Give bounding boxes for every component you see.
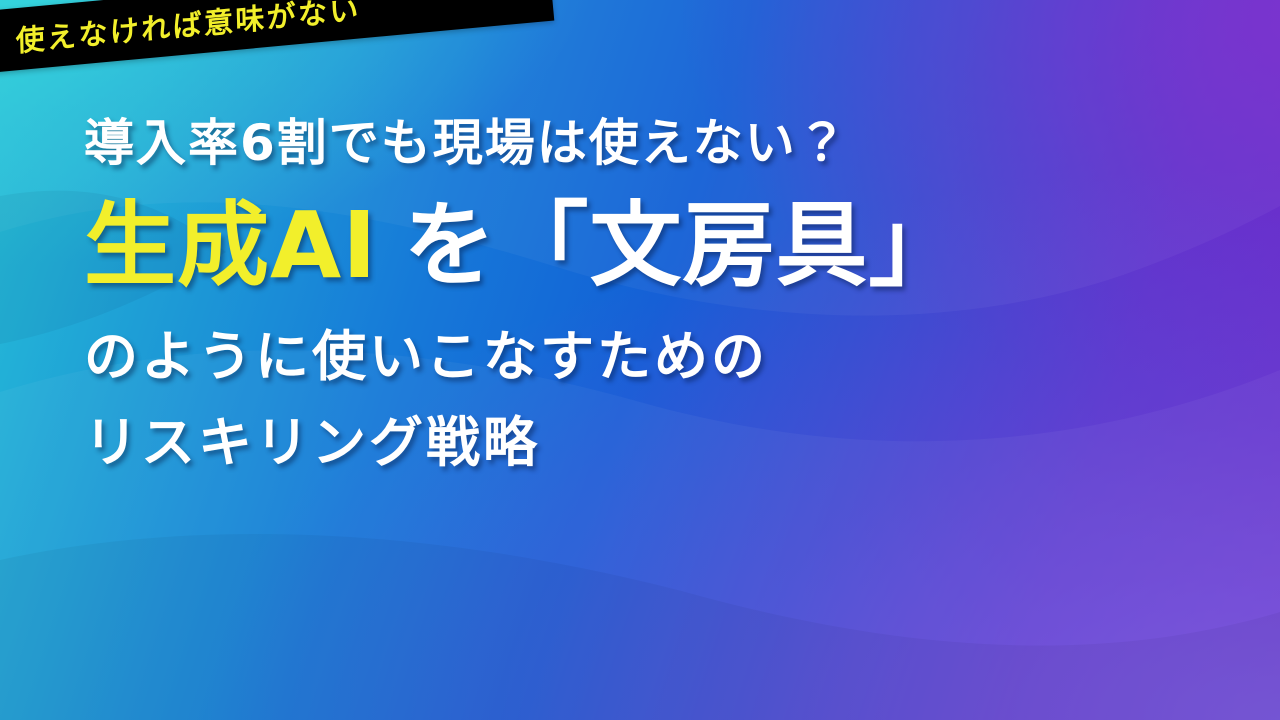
slide-canvas: 使えなければ意味がない 導入率6割でも現場は使えない？ 生成AIを「文房具」 の…: [0, 0, 1280, 720]
headline-title: 生成AIを「文房具」: [84, 200, 1214, 292]
headline-subline: 導入率6割でも現場は使えない？: [84, 118, 1214, 168]
headline-body-line-2: リスキリング戦略: [84, 416, 1214, 470]
headline-block: 導入率6割でも現場は使えない？ 生成AIを「文房具」 のように使いこなすための …: [84, 118, 1214, 470]
headline-title-accent: 生成AI: [84, 192, 377, 299]
headline-body-line-1: のように使いこなすための: [84, 330, 1214, 384]
headline-title-rest: を「文房具」: [403, 192, 961, 299]
